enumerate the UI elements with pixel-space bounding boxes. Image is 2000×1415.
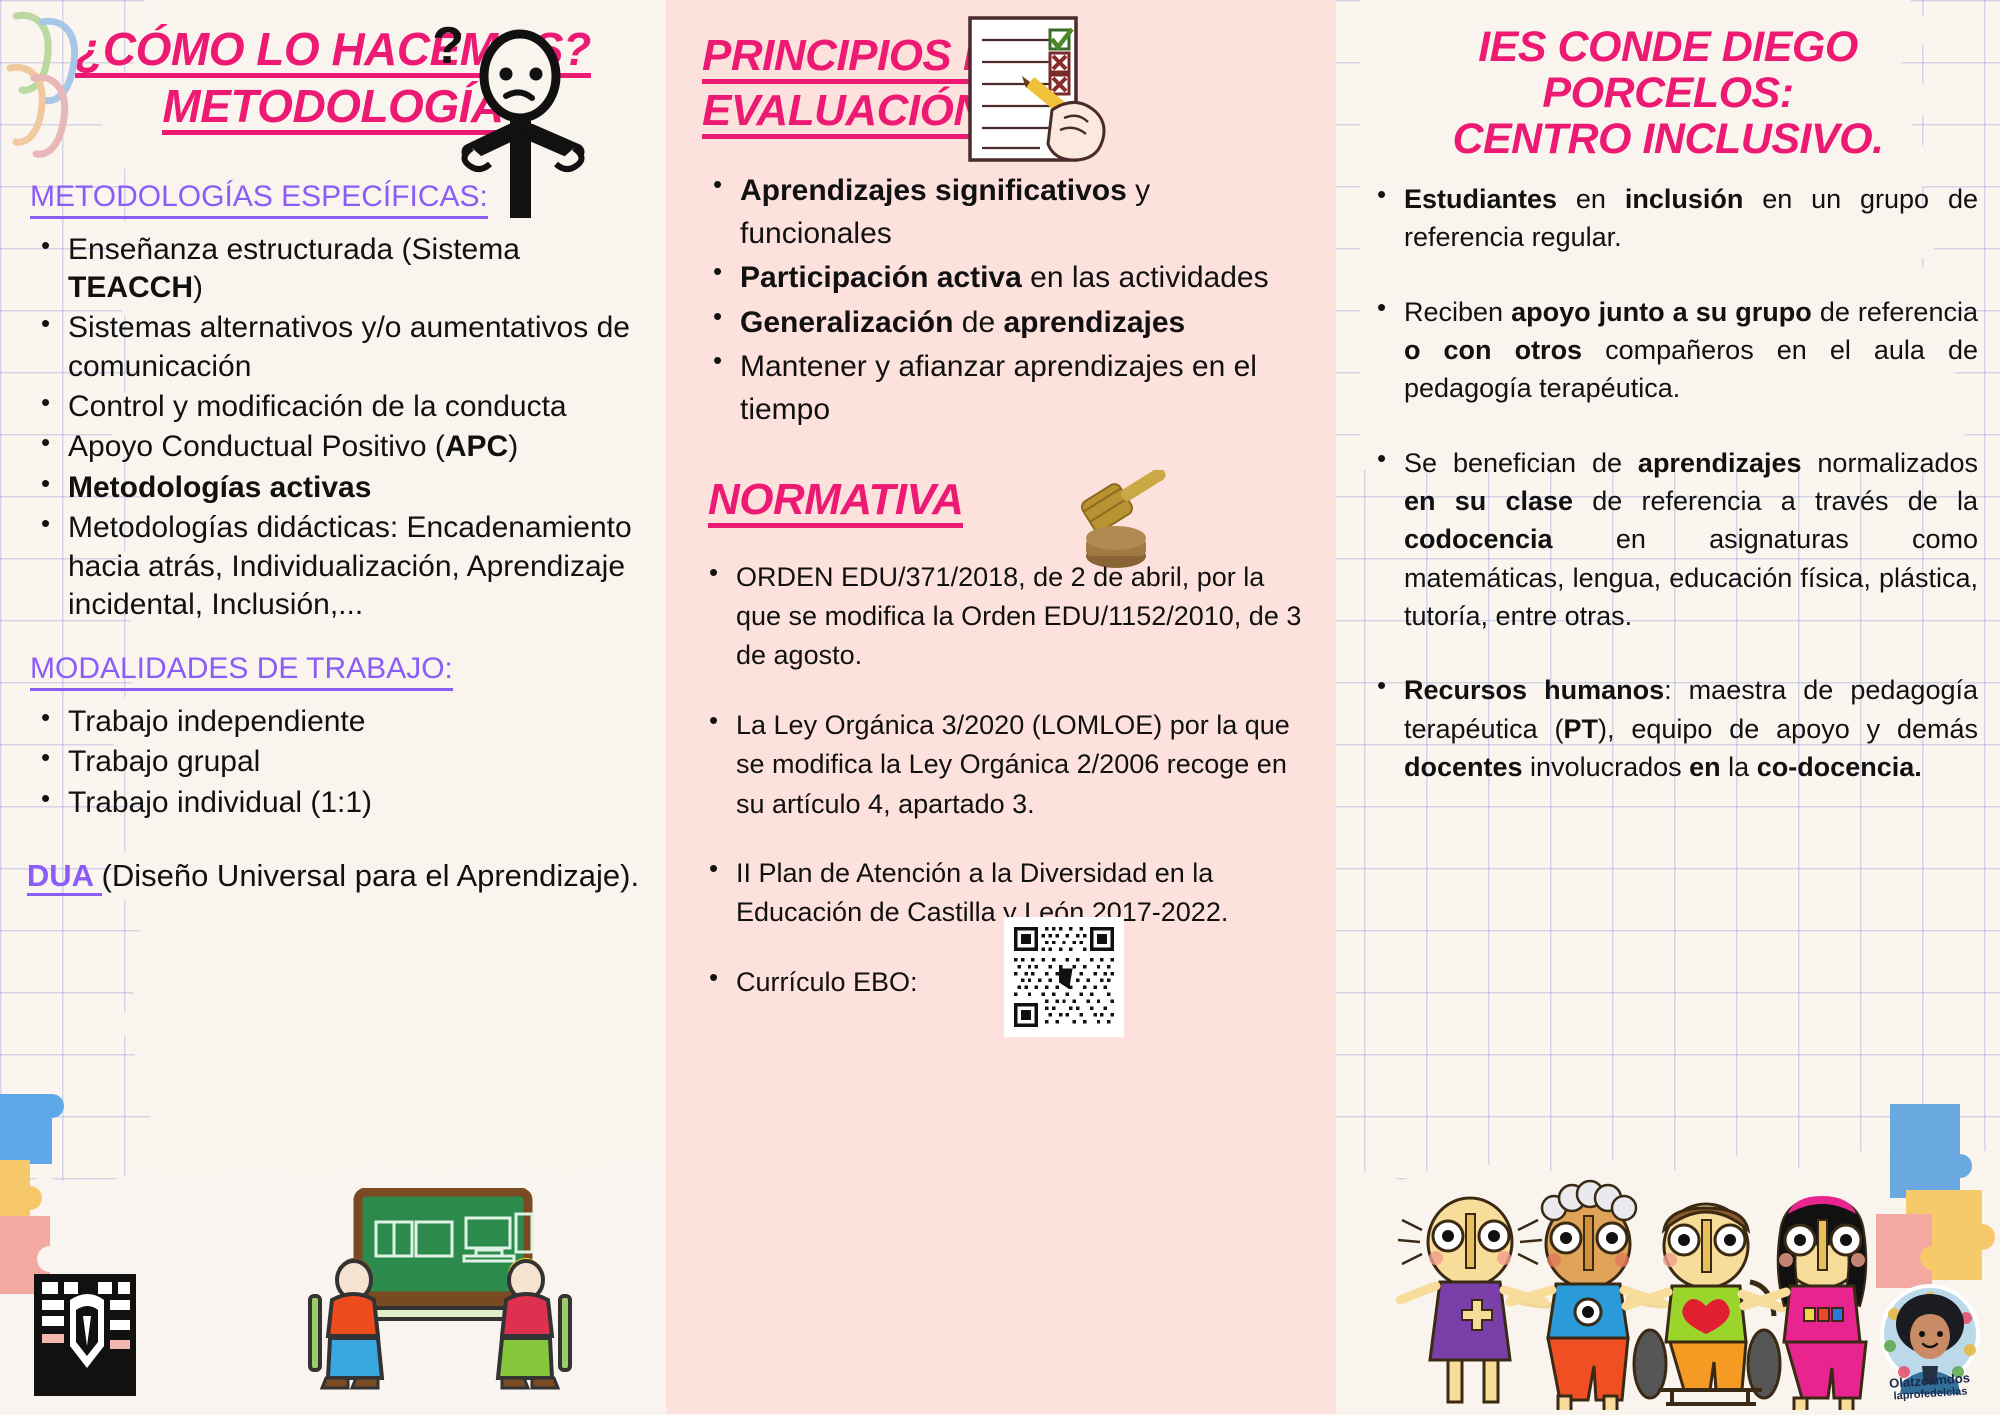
item-bold: o con otros <box>1404 335 1582 365</box>
list-item: ORDEN EDU/371/2018, de 2 de abril, por l… <box>736 558 1310 676</box>
normativa-title-text: NORMATIVA <box>708 478 963 528</box>
list-item: Recursos humanos: maestra de pedagogía t… <box>1404 671 1978 786</box>
item-bold-tail: aprendizajes <box>1003 306 1185 339</box>
item-bold: codocencia <box>1404 524 1553 554</box>
list-item: Control y modificación de la conducta <box>68 388 650 426</box>
item-text: Sistemas alternativos y/o aumentativos d… <box>68 311 630 382</box>
dua-description: (Diseño Universal para el Aprendizaje). <box>102 858 640 893</box>
modalidades-list: Trabajo independiente Trabajo grupal Tra… <box>16 703 650 822</box>
right-column-title: IES CONDE DIEGO PORCELOS: CENTRO INCLUSI… <box>1358 0 1978 162</box>
item-bold: PT <box>1563 714 1598 744</box>
item-rest: Mantener y afianzar aprendizajes en el t… <box>740 350 1257 426</box>
list-item: Sistemas alternativos y/o aumentativos d… <box>68 309 650 386</box>
item-text: de referencia a través de la <box>1573 486 1978 516</box>
item-text: Metodologías didácticas: Encadenamiento … <box>68 511 632 621</box>
item-text: Reciben <box>1404 297 1511 327</box>
column-principios-evaluacion: PRINCIPIOS DE EVALUACIÓN <box>666 0 1336 1414</box>
principios-list: Aprendizajes significativos y funcionale… <box>692 170 1310 432</box>
item-tail: ) <box>193 271 203 304</box>
list-item: Generalización de aprendizajes <box>740 302 1310 345</box>
list-item: Trabajo independiente <box>68 703 650 741</box>
middle-title-line2: EVALUACIÓN <box>702 89 985 139</box>
item-rest: en las actividades <box>1022 261 1269 294</box>
item-text: normalizados <box>1802 448 1979 478</box>
item-rest: de <box>953 306 1003 339</box>
item-text: de referencia <box>1812 297 1978 327</box>
checklist-hand-pencil-icon <box>960 6 1150 166</box>
item-bold: apoyo junto a su grupo <box>1511 297 1812 327</box>
item-bold: co-docencia. <box>1757 752 1922 782</box>
item-text: Control y modificación de la conducta <box>68 390 567 423</box>
item-bold: Metodologías activas <box>68 471 371 504</box>
dua-note: DUA (Diseño Universal para el Aprendizaj… <box>16 856 650 896</box>
right-title-line3: CENTRO INCLUSIVO. <box>1452 115 1883 163</box>
brochure-page: ¿CÓMO LO HACEMOS? METODOLOGÍA ? METODOLO… <box>0 0 2000 1414</box>
list-item: La Ley Orgánica 3/2020 (LOMLOE) por la q… <box>736 706 1310 824</box>
classroom-students-illustration <box>280 1188 600 1408</box>
item-bold: aprendizajes <box>1638 448 1802 478</box>
item-bold: en <box>1689 752 1721 782</box>
item-text: ORDEN EDU/371/2018, de 2 de abril, por l… <box>736 562 1301 671</box>
column-metodologia: ¿CÓMO LO HACEMOS? METODOLOGÍA ? METODOLO… <box>0 0 666 1414</box>
item-text: La Ley Orgánica 3/2020 (LOMLOE) por la q… <box>736 710 1290 819</box>
item-text: Enseñanza estructurada (Sistema <box>68 233 520 266</box>
item-bold: inclusión <box>1625 184 1744 214</box>
item-text: ), equipo de apoyo y demás <box>1598 714 1978 744</box>
item-text: involucrados <box>1523 752 1690 782</box>
qr-code-image <box>1014 927 1114 1027</box>
item-text: Trabajo individual (1:1) <box>68 786 372 819</box>
item-bold: APC <box>445 430 508 463</box>
author-logo[interactable]: Olatzcamdos laprofedelclas <box>1870 1280 1990 1410</box>
item-bold: Aprendizajes significativos <box>740 174 1127 207</box>
list-item: Aprendizajes significativos y funcionale… <box>740 170 1310 255</box>
item-text: Trabajo independiente <box>68 705 365 738</box>
confused-person-icon <box>450 28 640 218</box>
list-item: Participación activa en las actividades <box>740 257 1310 300</box>
list-item: Estudiantes en inclusión en un grupo de … <box>1404 180 1978 257</box>
right-title-line1: IES CONDE DIEGO <box>1478 23 1858 71</box>
paperclips-icon <box>4 6 124 196</box>
item-text: Currículo EBO: <box>736 967 918 997</box>
item-bold: Participación activa <box>740 261 1022 294</box>
list-item: Reciben apoyo junto a su grupo de refere… <box>1404 293 1978 408</box>
centro-inclusivo-list: Estudiantes en inclusión en un grupo de … <box>1358 180 1978 786</box>
item-bold: TEACCH <box>68 271 193 304</box>
list-item: Trabajo individual (1:1) <box>68 784 650 822</box>
item-text: Se benefician de <box>1404 448 1638 478</box>
item-bold: Recursos humanos <box>1404 675 1664 705</box>
list-item: Mantener y afianzar aprendizajes en el t… <box>740 346 1310 431</box>
item-text: la <box>1721 752 1757 782</box>
school-crest-icon <box>30 1270 140 1400</box>
list-item: Se benefician de aprendizajes normalizad… <box>1404 444 1978 636</box>
item-bold: en su clase <box>1404 486 1573 516</box>
item-bold: docentes <box>1404 752 1523 782</box>
dua-keyword: DUA <box>27 858 102 896</box>
inclusive-children-illustration <box>1396 1170 1916 1410</box>
qr-code-curriculo-ebo[interactable] <box>1004 917 1124 1037</box>
list-item: Enseñanza estructurada (Sistema TEACCH) <box>68 231 650 308</box>
list-item: Apoyo Conductual Positivo (APC) <box>68 428 650 466</box>
metodologias-especificas-list: Enseñanza estructurada (Sistema TEACCH) … <box>16 231 650 625</box>
list-item: Trabajo grupal <box>68 743 650 781</box>
normativa-title: NORMATIVA <box>692 478 1310 528</box>
item-bold: Estudiantes <box>1404 184 1557 214</box>
item-text: II Plan de Atención a la Diversidad en l… <box>736 858 1228 927</box>
normativa-list: ORDEN EDU/371/2018, de 2 de abril, por l… <box>692 558 1310 1003</box>
right-title-line2: PORCELOS: <box>1542 69 1793 117</box>
list-item: Metodologías didácticas: Encadenamiento … <box>68 509 650 624</box>
list-item: Metodologías activas <box>68 469 650 507</box>
item-text: en <box>1557 184 1625 214</box>
item-text: Apoyo Conductual Positivo ( <box>68 430 445 463</box>
section-label-modalidades-de-trabajo: MODALIDADES DE TRABAJO: <box>30 650 453 691</box>
item-text: Trabajo grupal <box>68 745 260 778</box>
item-bold: Generalización <box>740 306 953 339</box>
item-tail: ) <box>508 430 518 463</box>
column-centro-inclusivo: IES CONDE DIEGO PORCELOS: CENTRO INCLUSI… <box>1336 0 2000 1414</box>
list-item: Currículo EBO: <box>736 963 1310 1002</box>
